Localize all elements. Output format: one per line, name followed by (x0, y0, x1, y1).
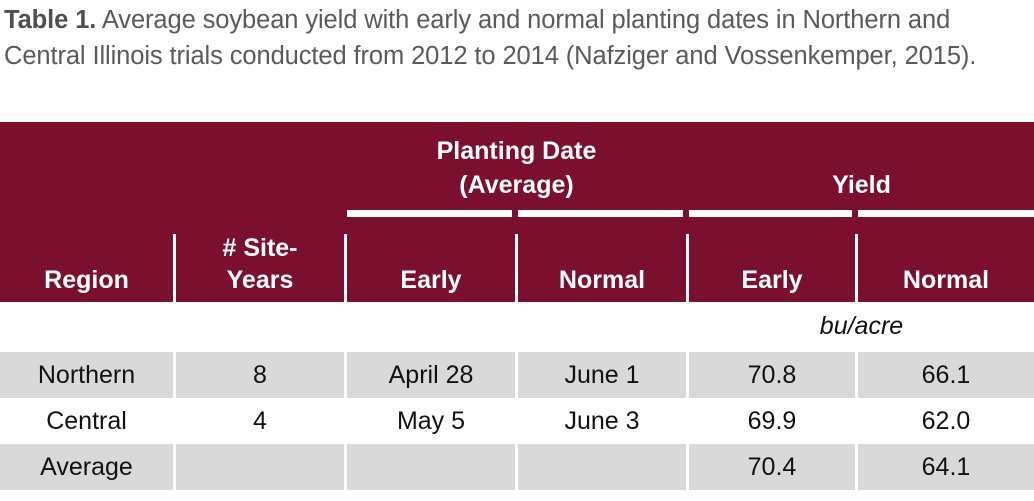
cell-yield-normal: 62.0 (858, 398, 1034, 444)
column-header-yield-early: Early (689, 264, 855, 296)
cell-region: Northern (0, 352, 173, 398)
header-separator-4 (686, 234, 689, 302)
cell-site-years (176, 444, 344, 490)
cell-planting-early (347, 444, 515, 490)
column-header-planting-normal-line1: Normal (518, 264, 686, 296)
units-label: bu/acre (689, 310, 1034, 342)
caption-label: Table 1. (4, 6, 96, 34)
column-header-planting-normal: Normal (518, 264, 686, 296)
group-rule-yield-early (689, 210, 852, 217)
group-header-yield: Yield (689, 168, 1034, 202)
cell-yield-early: 69.9 (689, 398, 855, 444)
cell-planting-early: May 5 (347, 398, 515, 444)
cell-region: Central (0, 398, 173, 444)
cell-yield-early: 70.8 (689, 352, 855, 398)
cell-yield-normal: 64.1 (858, 444, 1034, 490)
table-figure: Table 1. Average soybean yield with earl… (0, 0, 1034, 501)
table-row: Central4May 5June 369.962.0 (0, 398, 1034, 444)
cell-yield-normal: 66.1 (858, 352, 1034, 398)
column-header-site-years-line2: Years (176, 264, 344, 296)
units-row: bu/acre (0, 302, 1034, 352)
data-table: Planting Date (Average) Yield Region # S… (0, 122, 1034, 490)
group-rule-yield-normal (858, 210, 1034, 217)
cell-planting-normal: June 3 (518, 398, 686, 444)
group-header-yield-line1: Yield (689, 168, 1034, 202)
group-header-planting-date-line1: Planting Date (347, 134, 686, 168)
caption-text: Average soybean yield with early and nor… (4, 6, 976, 70)
cell-planting-normal: June 1 (518, 352, 686, 398)
table-row: Average70.464.1 (0, 444, 1034, 490)
table-caption: Table 1. Average soybean yield with earl… (4, 2, 1030, 74)
cell-planting-early: April 28 (347, 352, 515, 398)
column-header-site-years-line1: # Site- (176, 232, 344, 264)
column-header-site-years: # Site- Years (176, 232, 344, 296)
column-header-yield-normal: Normal (858, 264, 1034, 296)
group-rule-planting-early (347, 210, 512, 217)
column-header-yield-early-line1: Early (689, 264, 855, 296)
group-header-planting-date-line2: (Average) (347, 168, 686, 202)
table-header: Planting Date (Average) Yield Region # S… (0, 122, 1034, 302)
header-separator-2 (344, 234, 347, 302)
column-header-planting-early: Early (347, 264, 515, 296)
cell-yield-early: 70.4 (689, 444, 855, 490)
column-header-planting-early-line1: Early (347, 264, 515, 296)
column-header-region: Region (0, 264, 173, 296)
header-separator-1 (173, 234, 176, 302)
header-separator-3 (515, 234, 518, 302)
cell-site-years: 8 (176, 352, 344, 398)
cell-planting-normal (518, 444, 686, 490)
group-header-planting-date: Planting Date (Average) (347, 134, 686, 202)
table-row: Northern8April 28June 170.866.1 (0, 352, 1034, 398)
cell-region: Average (0, 444, 173, 490)
column-header-yield-normal-line1: Normal (858, 264, 1034, 296)
column-header-region-line1: Region (0, 264, 173, 296)
header-separator-5 (855, 234, 858, 302)
cell-site-years: 4 (176, 398, 344, 444)
group-rule-planting-normal (518, 210, 683, 217)
